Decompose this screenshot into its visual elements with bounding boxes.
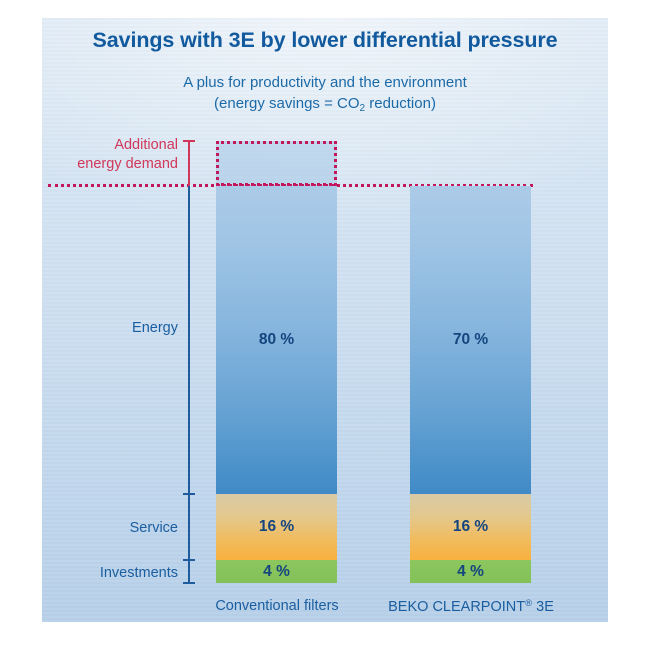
bar2-segment-energy: 70 % [410,186,531,494]
axis-blue-segment [188,186,190,583]
x-axis-label-conventional-filters: Conventional filters [196,598,358,614]
bar1-segment-energy: 80 % [216,186,337,494]
additional-energy-demand-line-1: Additional [114,137,178,153]
segment-label-investments: Investments [48,565,178,581]
axis-tick-service [183,493,195,495]
bar2-segment-investments: 4 % [410,560,531,583]
bar2-segment-service: 16 % [410,494,531,560]
segment-label-service: Service [48,520,178,536]
additional-energy-demand-line-2: energy demand [77,156,178,172]
additional-energy-demand-rectangle [216,141,337,186]
axis-tick-investments [183,559,195,561]
plot-area: Additional energy demand Energy Service … [0,0,650,650]
axis-red-segment [188,141,190,186]
axis-tick-baseline [183,582,195,584]
x-axis-label-beko-pre: BEKO CLEARPOINT [388,599,525,615]
bar1-segment-investments: 4 % [216,560,337,583]
bar1-segment-service: 16 % [216,494,337,560]
x-axis-label-beko-clearpoint-3e: BEKO CLEARPOINT® 3E [374,598,568,615]
additional-energy-demand-label: Additional energy demand [48,136,178,174]
x-axis-label-beko-post: 3E [532,599,554,615]
segment-label-energy: Energy [48,320,178,336]
infographic-canvas: Savings with 3E by lower differential pr… [0,0,650,650]
